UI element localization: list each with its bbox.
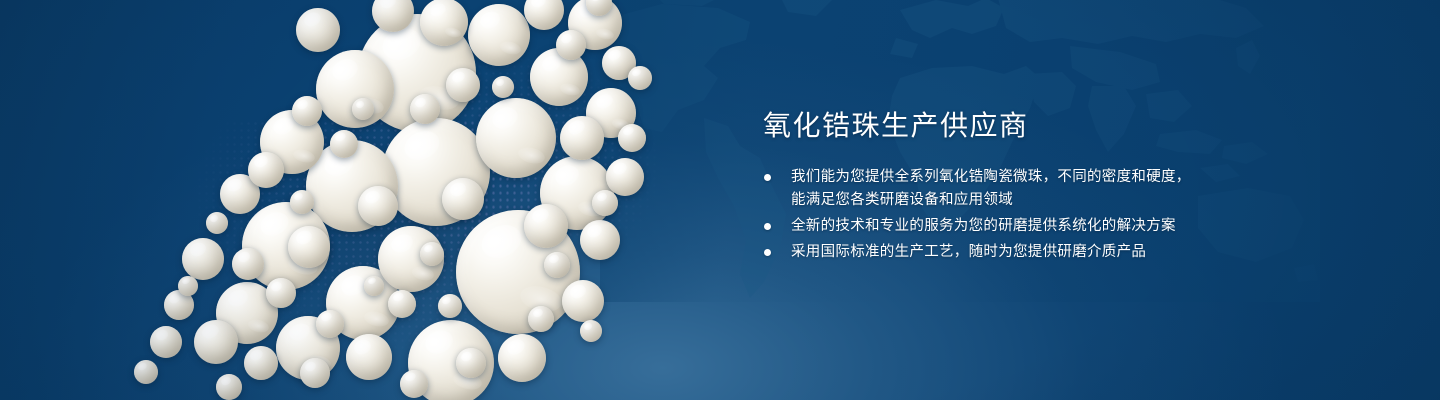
bullet-line: 采用国际标准的生产工艺，随时为您提供研磨介质产品: [791, 241, 1223, 264]
list-item: 全新的技术和专业的服务为您的研磨提供系统化的解决方案: [763, 215, 1223, 238]
banner-headline: 氧化锆珠生产供应商: [763, 108, 1223, 144]
hero-banner: 氧化锆珠生产供应商 我们能为您提供全系列氧化锆陶瓷微珠，不同的密度和硬度， 能满…: [0, 0, 1440, 400]
dot-bullet-icon: [764, 249, 771, 256]
banner-vignette: [0, 0, 1440, 400]
bullet-line: 能满足您各类研磨设备和应用领域: [791, 189, 1223, 212]
list-item: 我们能为您提供全系列氧化锆陶瓷微珠，不同的密度和硬度， 能满足您各类研磨设备和应…: [763, 166, 1223, 212]
bullet-line: 全新的技术和专业的服务为您的研磨提供系统化的解决方案: [791, 215, 1223, 238]
dot-bullet-icon: [764, 174, 771, 181]
dot-bullet-icon: [764, 223, 771, 230]
banner-content: 氧化锆珠生产供应商 我们能为您提供全系列氧化锆陶瓷微珠，不同的密度和硬度， 能满…: [763, 108, 1223, 267]
banner-feature-list: 我们能为您提供全系列氧化锆陶瓷微珠，不同的密度和硬度， 能满足您各类研磨设备和应…: [763, 166, 1223, 264]
bullet-line: 我们能为您提供全系列氧化锆陶瓷微珠，不同的密度和硬度，: [791, 166, 1223, 189]
list-item: 采用国际标准的生产工艺，随时为您提供研磨介质产品: [763, 241, 1223, 264]
